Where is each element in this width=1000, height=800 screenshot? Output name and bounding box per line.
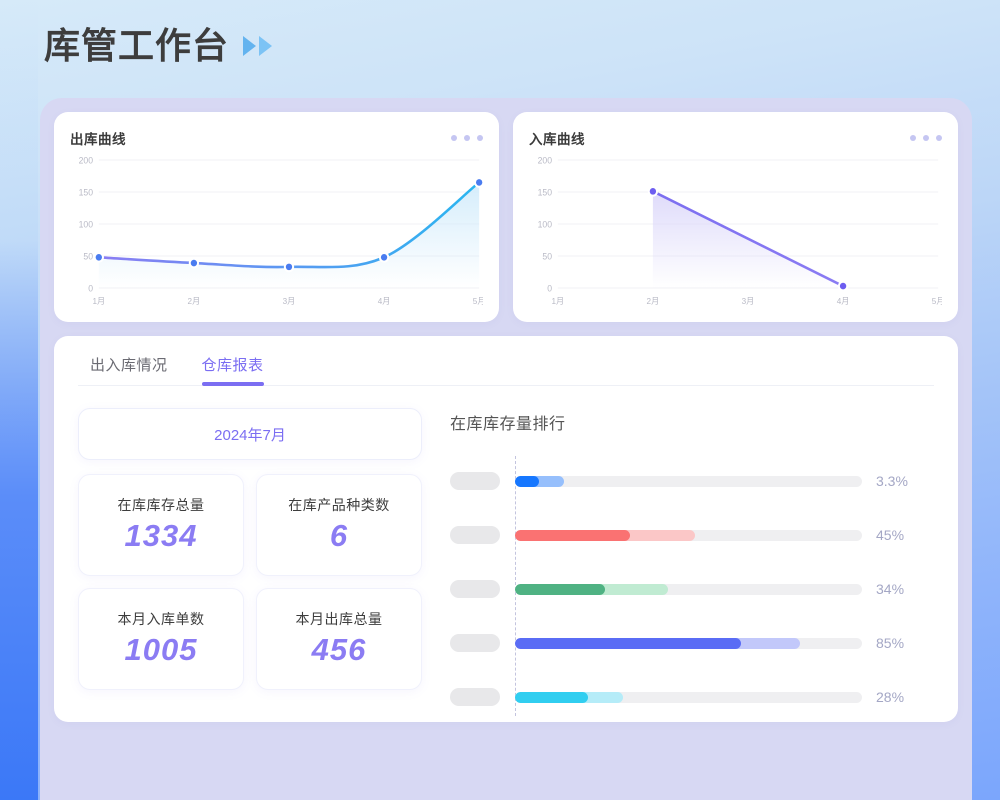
y-axis-tick-label: 200 [538, 155, 553, 165]
outbound-chart-title: 出库曲线 [70, 128, 126, 148]
ranking-bar-track [515, 692, 862, 703]
ranking-bar-track [515, 584, 862, 595]
x-axis-tick-label: 5月 [932, 296, 942, 306]
inbound-line-chart-svg: 0501001502001月2月3月4月5月 [529, 152, 942, 312]
report-card: 出入库情况 仓库报表 2024年7月 在库库存总量 1334 在库产品种类数 6 [54, 336, 958, 722]
stat-grid: 在库库存总量 1334 在库产品种类数 6 本月入库单数 1005 本月出库总量… [78, 474, 422, 690]
chart-data-point[interactable] [96, 254, 102, 261]
ranking-title: 在库库存量排行 [450, 410, 934, 434]
y-axis-tick-label: 150 [79, 187, 94, 197]
dot-3 [936, 135, 942, 141]
ranking-bar-list: 3.3%45%34%85%28% [450, 454, 934, 724]
dot-3 [477, 135, 483, 141]
x-axis-tick-label: 3月 [283, 296, 296, 306]
left-accent-strip [0, 0, 38, 800]
ranking-row: 28% [450, 670, 934, 724]
stat-card-total-stock[interactable]: 在库库存总量 1334 [78, 474, 244, 576]
ranking-percent-label: 3.3% [876, 473, 934, 489]
dot-2 [923, 135, 929, 141]
chart-data-point[interactable] [840, 283, 846, 290]
stats-column: 2024年7月 在库库存总量 1334 在库产品种类数 6 本月入库单数 100… [78, 408, 422, 724]
stat-label: 在库产品种类数 [288, 495, 390, 515]
ranking-label-placeholder [450, 634, 500, 652]
more-dots-icon[interactable] [910, 135, 942, 141]
ranking-percent-label: 34% [876, 581, 934, 597]
outbound-chart-plot: 0501001502001月2月3月4月5月 [70, 152, 483, 312]
y-axis-tick-label: 0 [88, 283, 93, 293]
ranking-label-placeholder [450, 688, 500, 706]
y-axis-tick-label: 50 [83, 251, 93, 261]
stat-label: 在库库存总量 [118, 495, 205, 515]
stat-value: 1334 [125, 517, 198, 556]
x-axis-tick-label: 4月 [378, 296, 391, 306]
y-axis-tick-label: 150 [538, 187, 553, 197]
dot-1 [910, 135, 916, 141]
x-axis-tick-label: 2月 [647, 296, 660, 306]
stat-value: 6 [330, 517, 348, 556]
inbound-chart-card: 入库曲线 0501001502001月2月3月4月5月 [513, 112, 958, 322]
chart-data-point[interactable] [381, 254, 387, 261]
ranking-row: 3.3% [450, 454, 934, 508]
y-axis-tick-label: 100 [538, 219, 553, 229]
stat-value: 1005 [125, 631, 198, 670]
report-content: 2024年7月 在库库存总量 1334 在库产品种类数 6 本月入库单数 100… [78, 386, 934, 724]
dot-1 [451, 135, 457, 141]
x-axis-tick-label: 5月 [473, 296, 483, 306]
tab-inout-status[interactable]: 出入库情况 [90, 354, 168, 385]
ranking-percent-label: 85% [876, 635, 934, 651]
ranking-bar-fill-primary [515, 476, 539, 487]
page-title: 库管工作台 [44, 28, 229, 64]
ranking-row: 34% [450, 562, 934, 616]
charts-row: 出库曲线 0501001502001月2月3月4月5月 入库曲线 [54, 112, 958, 322]
tab-warehouse-report[interactable]: 仓库报表 [202, 354, 264, 385]
more-dots-icon[interactable] [451, 135, 483, 141]
ranking-bar-fill-primary [515, 638, 741, 649]
ranking-row: 45% [450, 508, 934, 562]
ranking-label-placeholder [450, 472, 500, 490]
ranking-bar-fill-primary [515, 584, 605, 595]
inbound-chart-title: 入库曲线 [529, 128, 585, 148]
x-axis-tick-label: 1月 [551, 296, 564, 306]
ranking-bar-track [515, 530, 862, 541]
chart-data-point[interactable] [476, 179, 482, 186]
chart-data-point[interactable] [650, 188, 656, 195]
ranking-column: 在库库存量排行 3.3%45%34%85%28% [450, 408, 934, 724]
y-axis-tick-label: 200 [79, 155, 94, 165]
ranking-percent-label: 45% [876, 527, 934, 543]
dashboard-panel: 出库曲线 0501001502001月2月3月4月5月 入库曲线 [40, 98, 972, 800]
ranking-bar-track [515, 476, 862, 487]
stat-card-product-types[interactable]: 在库产品种类数 6 [256, 474, 422, 576]
x-axis-tick-label: 3月 [742, 296, 755, 306]
y-axis-tick-label: 100 [79, 219, 94, 229]
outbound-chart-card: 出库曲线 0501001502001月2月3月4月5月 [54, 112, 499, 322]
report-tabs: 出入库情况 仓库报表 [78, 354, 934, 386]
chevron-right-icon-2 [259, 36, 272, 56]
ranking-row: 85% [450, 616, 934, 670]
ranking-bar-fill-primary [515, 692, 588, 703]
outbound-chart-header: 出库曲线 [70, 128, 483, 148]
double-chevron-right-icon [243, 36, 272, 56]
stat-card-inbound-orders[interactable]: 本月入库单数 1005 [78, 588, 244, 690]
date-selector[interactable]: 2024年7月 [78, 408, 422, 460]
dot-2 [464, 135, 470, 141]
x-axis-tick-label: 4月 [837, 296, 850, 306]
ranking-label-placeholder [450, 580, 500, 598]
outbound-line-chart-svg: 0501001502001月2月3月4月5月 [70, 152, 483, 312]
stat-card-outbound-total[interactable]: 本月出库总量 456 [256, 588, 422, 690]
y-axis-tick-label: 0 [547, 283, 552, 293]
chevron-right-icon-1 [243, 36, 256, 56]
ranking-label-placeholder [450, 526, 500, 544]
ranking-bar-track [515, 638, 862, 649]
stat-label: 本月出库总量 [296, 609, 383, 629]
chart-data-point[interactable] [191, 260, 197, 267]
stat-value: 456 [312, 631, 367, 670]
chart-data-point[interactable] [286, 264, 292, 271]
page-header: 库管工作台 [44, 28, 272, 64]
ranking-bar-fill-primary [515, 530, 630, 541]
x-axis-tick-label: 2月 [188, 296, 201, 306]
inbound-chart-plot: 0501001502001月2月3月4月5月 [529, 152, 942, 312]
x-axis-tick-label: 1月 [92, 296, 105, 306]
inbound-chart-header: 入库曲线 [529, 128, 942, 148]
y-axis-tick-label: 50 [542, 251, 552, 261]
ranking-percent-label: 28% [876, 689, 934, 705]
stat-label: 本月入库单数 [118, 609, 205, 629]
